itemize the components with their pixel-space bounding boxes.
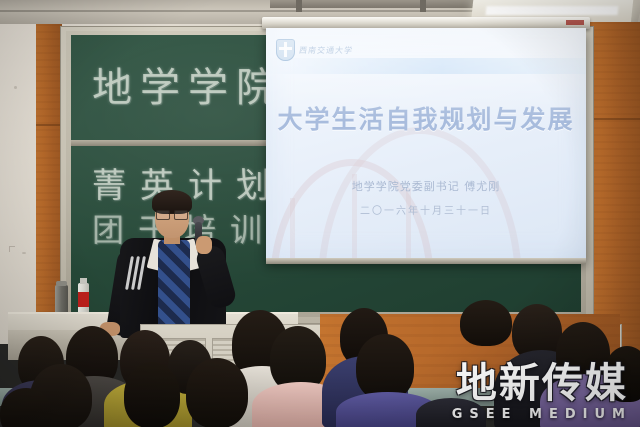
audience-head — [124, 362, 180, 427]
speaker-right-hand — [196, 236, 212, 254]
watermark-english-text: GSEE MEDIUM — [452, 408, 632, 421]
side-wall — [0, 24, 36, 344]
wall-mark — [9, 246, 15, 252]
lecture-hall-photo: 地学学院 菁英计划 团干培训班 西南交通大学 大学生活自我规划与发展 地学学院党… — [0, 0, 640, 427]
ceiling-mount — [420, 0, 426, 12]
audience-head — [356, 334, 414, 400]
projection-screen: 西南交通大学 大学生活自我规划与发展 地学学院党委副书记 傅尤刚 二〇一六年十月… — [266, 28, 586, 260]
media-watermark: 地新传媒 GSEE MEDIUM — [452, 363, 632, 421]
roller-brand-badge — [566, 20, 584, 25]
audience-head — [460, 300, 512, 346]
university-logo: 西南交通大学 — [276, 39, 353, 61]
shield-cross-icon — [276, 39, 295, 61]
slide-subtitle: 地学学院党委副书记 傅尤刚 — [266, 178, 586, 194]
wall-mark — [14, 86, 17, 89]
slide-date: 二〇一六年十月三十一日 — [266, 202, 586, 217]
wood-joint — [36, 124, 62, 126]
thermos-cap — [56, 281, 67, 286]
ceiling-mount — [296, 0, 302, 12]
ceiling-rail — [270, 0, 490, 8]
speaker-glasses — [156, 210, 188, 218]
wall-mark — [22, 252, 26, 254]
watermark-chinese-text: 地新传媒 — [452, 363, 632, 404]
slide-title: 大学生活自我规划与发展 — [266, 100, 586, 136]
wood-joint — [588, 118, 640, 120]
university-name: 西南交通大学 — [298, 45, 354, 56]
fluorescent-tube — [486, 6, 619, 15]
bottle-cap — [80, 278, 87, 284]
chalk-text-line-1: 地学学院 — [92, 55, 284, 113]
projector-screen-bottom-bar — [266, 258, 586, 264]
audience-head — [186, 358, 248, 427]
